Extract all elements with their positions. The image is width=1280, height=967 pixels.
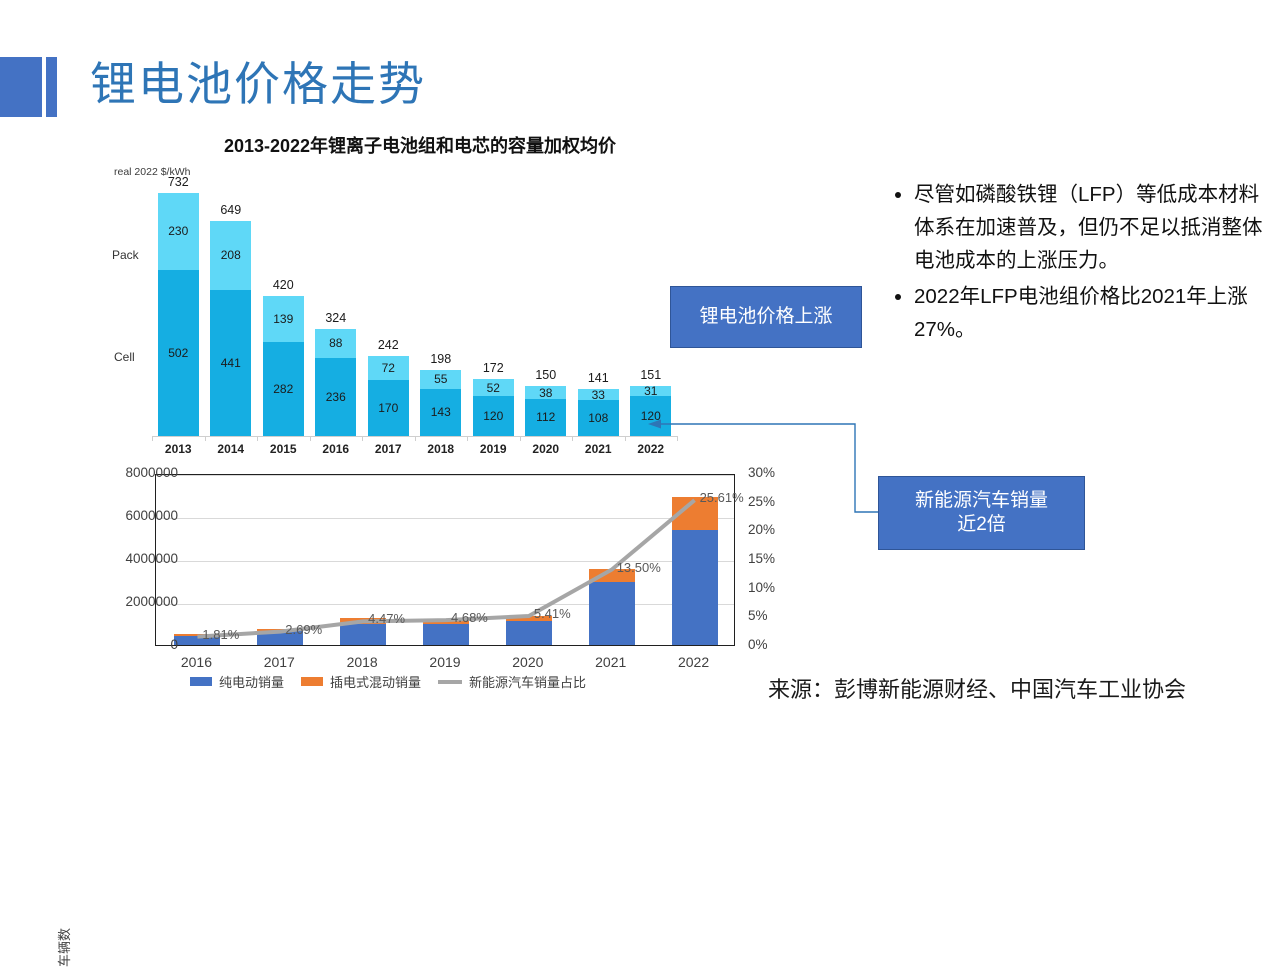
x-axis-tick	[257, 436, 258, 441]
bar-value-pack: 38	[525, 386, 566, 400]
bar-segment-pack: 208	[210, 221, 251, 290]
bar-total-label: 151	[624, 368, 677, 382]
bullet-list: 尽管如磷酸铁锂（LFP）等低成本材料体系在加速普及，但仍不足以抵消整体电池成本的…	[888, 178, 1270, 348]
title-accent-block-narrow	[46, 57, 57, 117]
legend-label-phev: 插电式混动销量	[330, 672, 421, 691]
x-axis-tick-label: 2022	[651, 654, 737, 670]
bar-total-label: 732	[152, 175, 205, 189]
x-axis-tick-label: 2015	[257, 442, 310, 456]
bar-segment-pack: 55	[420, 370, 461, 388]
bar-segment-pack: 139	[263, 296, 304, 342]
bar-value-pack: 139	[263, 312, 304, 326]
bar-segment-pack: 38	[525, 386, 566, 399]
x-axis-tick-label: 2018	[414, 442, 467, 456]
x-axis-tick	[310, 436, 311, 441]
bar-total-label: 324	[309, 311, 362, 325]
bar-total-label: 141	[572, 371, 625, 385]
y-axis-tick-label-left: 0	[170, 637, 178, 652]
y-axis-tick-label-left: 4000000	[125, 551, 178, 566]
x-axis-tick-label: 2014	[204, 442, 257, 456]
bar-segment-cell: 502	[158, 270, 199, 436]
page-title: 锂电池价格走势	[90, 48, 426, 114]
y-axis-tick-label-right: 25%	[748, 494, 775, 509]
x-axis-tick-label: 2016	[153, 654, 239, 670]
bar-value-cell: 282	[263, 382, 304, 396]
y-axis-tick-label-left: 2000000	[125, 594, 178, 609]
line-point-label: 25.61%	[700, 490, 744, 505]
legend-swatch-bev	[190, 677, 212, 686]
x-axis-tick-label: 2019	[402, 654, 488, 670]
x-axis-tick	[205, 436, 206, 441]
row-label-pack: Pack	[112, 248, 139, 262]
x-axis-tick	[625, 436, 626, 441]
bullet-item: 2022年LFP电池组价格比2021年上涨27%。	[914, 280, 1270, 346]
bar-total-label: 172	[467, 361, 520, 375]
callout-price-rise[interactable]: 锂电池价格上涨	[670, 286, 862, 348]
bar-segment-cell: 120	[630, 396, 671, 436]
bar-value-pack: 88	[315, 336, 356, 350]
x-axis-tick-label: 2019	[467, 442, 520, 456]
bar-value-pack: 52	[473, 381, 514, 395]
bar-segment-cell: 112	[525, 399, 566, 436]
bar-segment-cell: 236	[315, 358, 356, 436]
callout-sales-line2: 近2倍	[957, 514, 1006, 535]
lithium-price-chart: 2013-2022年锂离子电池组和电芯的容量加权均价 real 2022 $/k…	[100, 128, 680, 468]
x-axis-tick	[362, 436, 363, 441]
x-axis-tick-label: 2017	[236, 654, 322, 670]
x-axis-tick-label: 2016	[309, 442, 362, 456]
bar-segment-cell: 143	[420, 389, 461, 436]
x-axis-tick-label: 2017	[362, 442, 415, 456]
nev-sales-legend: 纯电动销量 插电式混动销量 新能源汽车销量占比	[190, 672, 810, 691]
x-axis-tick-label: 2018	[319, 654, 405, 670]
y-axis-tick-label-right: 10%	[748, 580, 775, 595]
bar-value-cell: 143	[420, 405, 461, 419]
title-accent-block-wide	[0, 57, 42, 117]
line-point-label: 4.47%	[368, 611, 405, 626]
x-axis-tick-label: 2020	[519, 442, 572, 456]
x-axis-tick-label: 2021	[568, 654, 654, 670]
legend-label-bev: 纯电动销量	[219, 672, 284, 691]
bar-total-label: 649	[204, 203, 257, 217]
bar-value-pack: 72	[368, 361, 409, 375]
bar-value-cell: 170	[368, 401, 409, 415]
legend-label-share: 新能源汽车销量占比	[469, 672, 586, 691]
bar-value-cell: 441	[210, 356, 251, 370]
x-axis-tick	[467, 436, 468, 441]
line-point-label: 4.68%	[451, 610, 488, 625]
line-point-label: 1.81%	[202, 627, 239, 642]
y-axis-tick-label-left: 8000000	[125, 465, 178, 480]
bar-value-cell: 236	[315, 390, 356, 404]
x-axis-tick	[152, 436, 153, 441]
bar-value-pack: 55	[420, 372, 461, 386]
bar-total-label: 242	[362, 338, 415, 352]
x-axis-tick	[677, 436, 678, 441]
bar-segment-pack: 230	[158, 193, 199, 269]
line-point-label: 5.41%	[534, 606, 571, 621]
bar-segment-pack: 88	[315, 329, 356, 358]
bar-value-pack: 230	[158, 224, 199, 238]
x-axis-tick	[415, 436, 416, 441]
line-point-label: 2.69%	[285, 622, 322, 637]
y-axis-tick-label-right: 30%	[748, 465, 775, 480]
bar-segment-pack: 33	[578, 389, 619, 400]
legend-line-share	[438, 680, 462, 684]
bar-total-label: 150	[519, 368, 572, 382]
bar-segment-pack: 72	[368, 356, 409, 380]
callout-sales-double[interactable]: 新能源汽车销量 近2倍	[878, 476, 1085, 550]
source-note: 来源：彭博新能源财经、中国汽车工业协会	[768, 672, 1186, 704]
bar-value-cell: 502	[158, 346, 199, 360]
nev-sales-chart: 车辆数 纯电动销量 插电式混动销量 新能源汽车销量占比 020000004000…	[60, 462, 860, 712]
x-axis-tick-label: 2020	[485, 654, 571, 670]
bullet-item: 尽管如磷酸铁锂（LFP）等低成本材料体系在加速普及，但仍不足以抵消整体电池成本的…	[914, 178, 1270, 278]
bar-value-cell: 120	[473, 409, 514, 423]
bar-segment-cell: 108	[578, 400, 619, 436]
y-axis-tick-label-right: 5%	[748, 608, 768, 623]
x-axis-tick-label: 2021	[572, 442, 625, 456]
x-axis-tick	[572, 436, 573, 441]
bar-segment-cell: 120	[473, 396, 514, 436]
bar-segment-pack: 52	[473, 379, 514, 396]
bar-segment-cell: 170	[368, 380, 409, 436]
legend-swatch-phev	[301, 677, 323, 686]
x-axis-tick-label: 2013	[152, 442, 205, 456]
bar-segment-pack: 31	[630, 386, 671, 396]
y-axis-tick-label-right: 15%	[748, 551, 775, 566]
lithium-price-plot-area: 2305027322084416491392824208823632472170…	[152, 184, 677, 436]
bar-total-label: 420	[257, 278, 310, 292]
y-axis-tick-label-right: 20%	[748, 522, 775, 537]
callout-sales-line1: 新能源汽车销量	[915, 490, 1048, 511]
bar-total-label: 198	[414, 352, 467, 366]
bar-segment-cell: 441	[210, 290, 251, 436]
bar-segment-cell: 282	[263, 342, 304, 436]
y-axis-tick-label-left: 6000000	[125, 508, 178, 523]
line-point-label: 13.50%	[617, 560, 661, 575]
bar-value-cell: 112	[525, 410, 566, 424]
bar-value-cell: 120	[630, 409, 671, 423]
lithium-price-chart-title: 2013-2022年锂离子电池组和电芯的容量加权均价	[160, 132, 680, 158]
bar-value-cell: 108	[578, 411, 619, 425]
nev-sales-y-axis-label: 车辆数	[54, 928, 73, 967]
bar-value-pack: 208	[210, 248, 251, 262]
y-axis-tick-label-right: 0%	[748, 637, 768, 652]
row-label-cell: Cell	[114, 350, 135, 364]
x-axis-tick-label: 2022	[624, 442, 677, 456]
x-axis-tick	[520, 436, 521, 441]
